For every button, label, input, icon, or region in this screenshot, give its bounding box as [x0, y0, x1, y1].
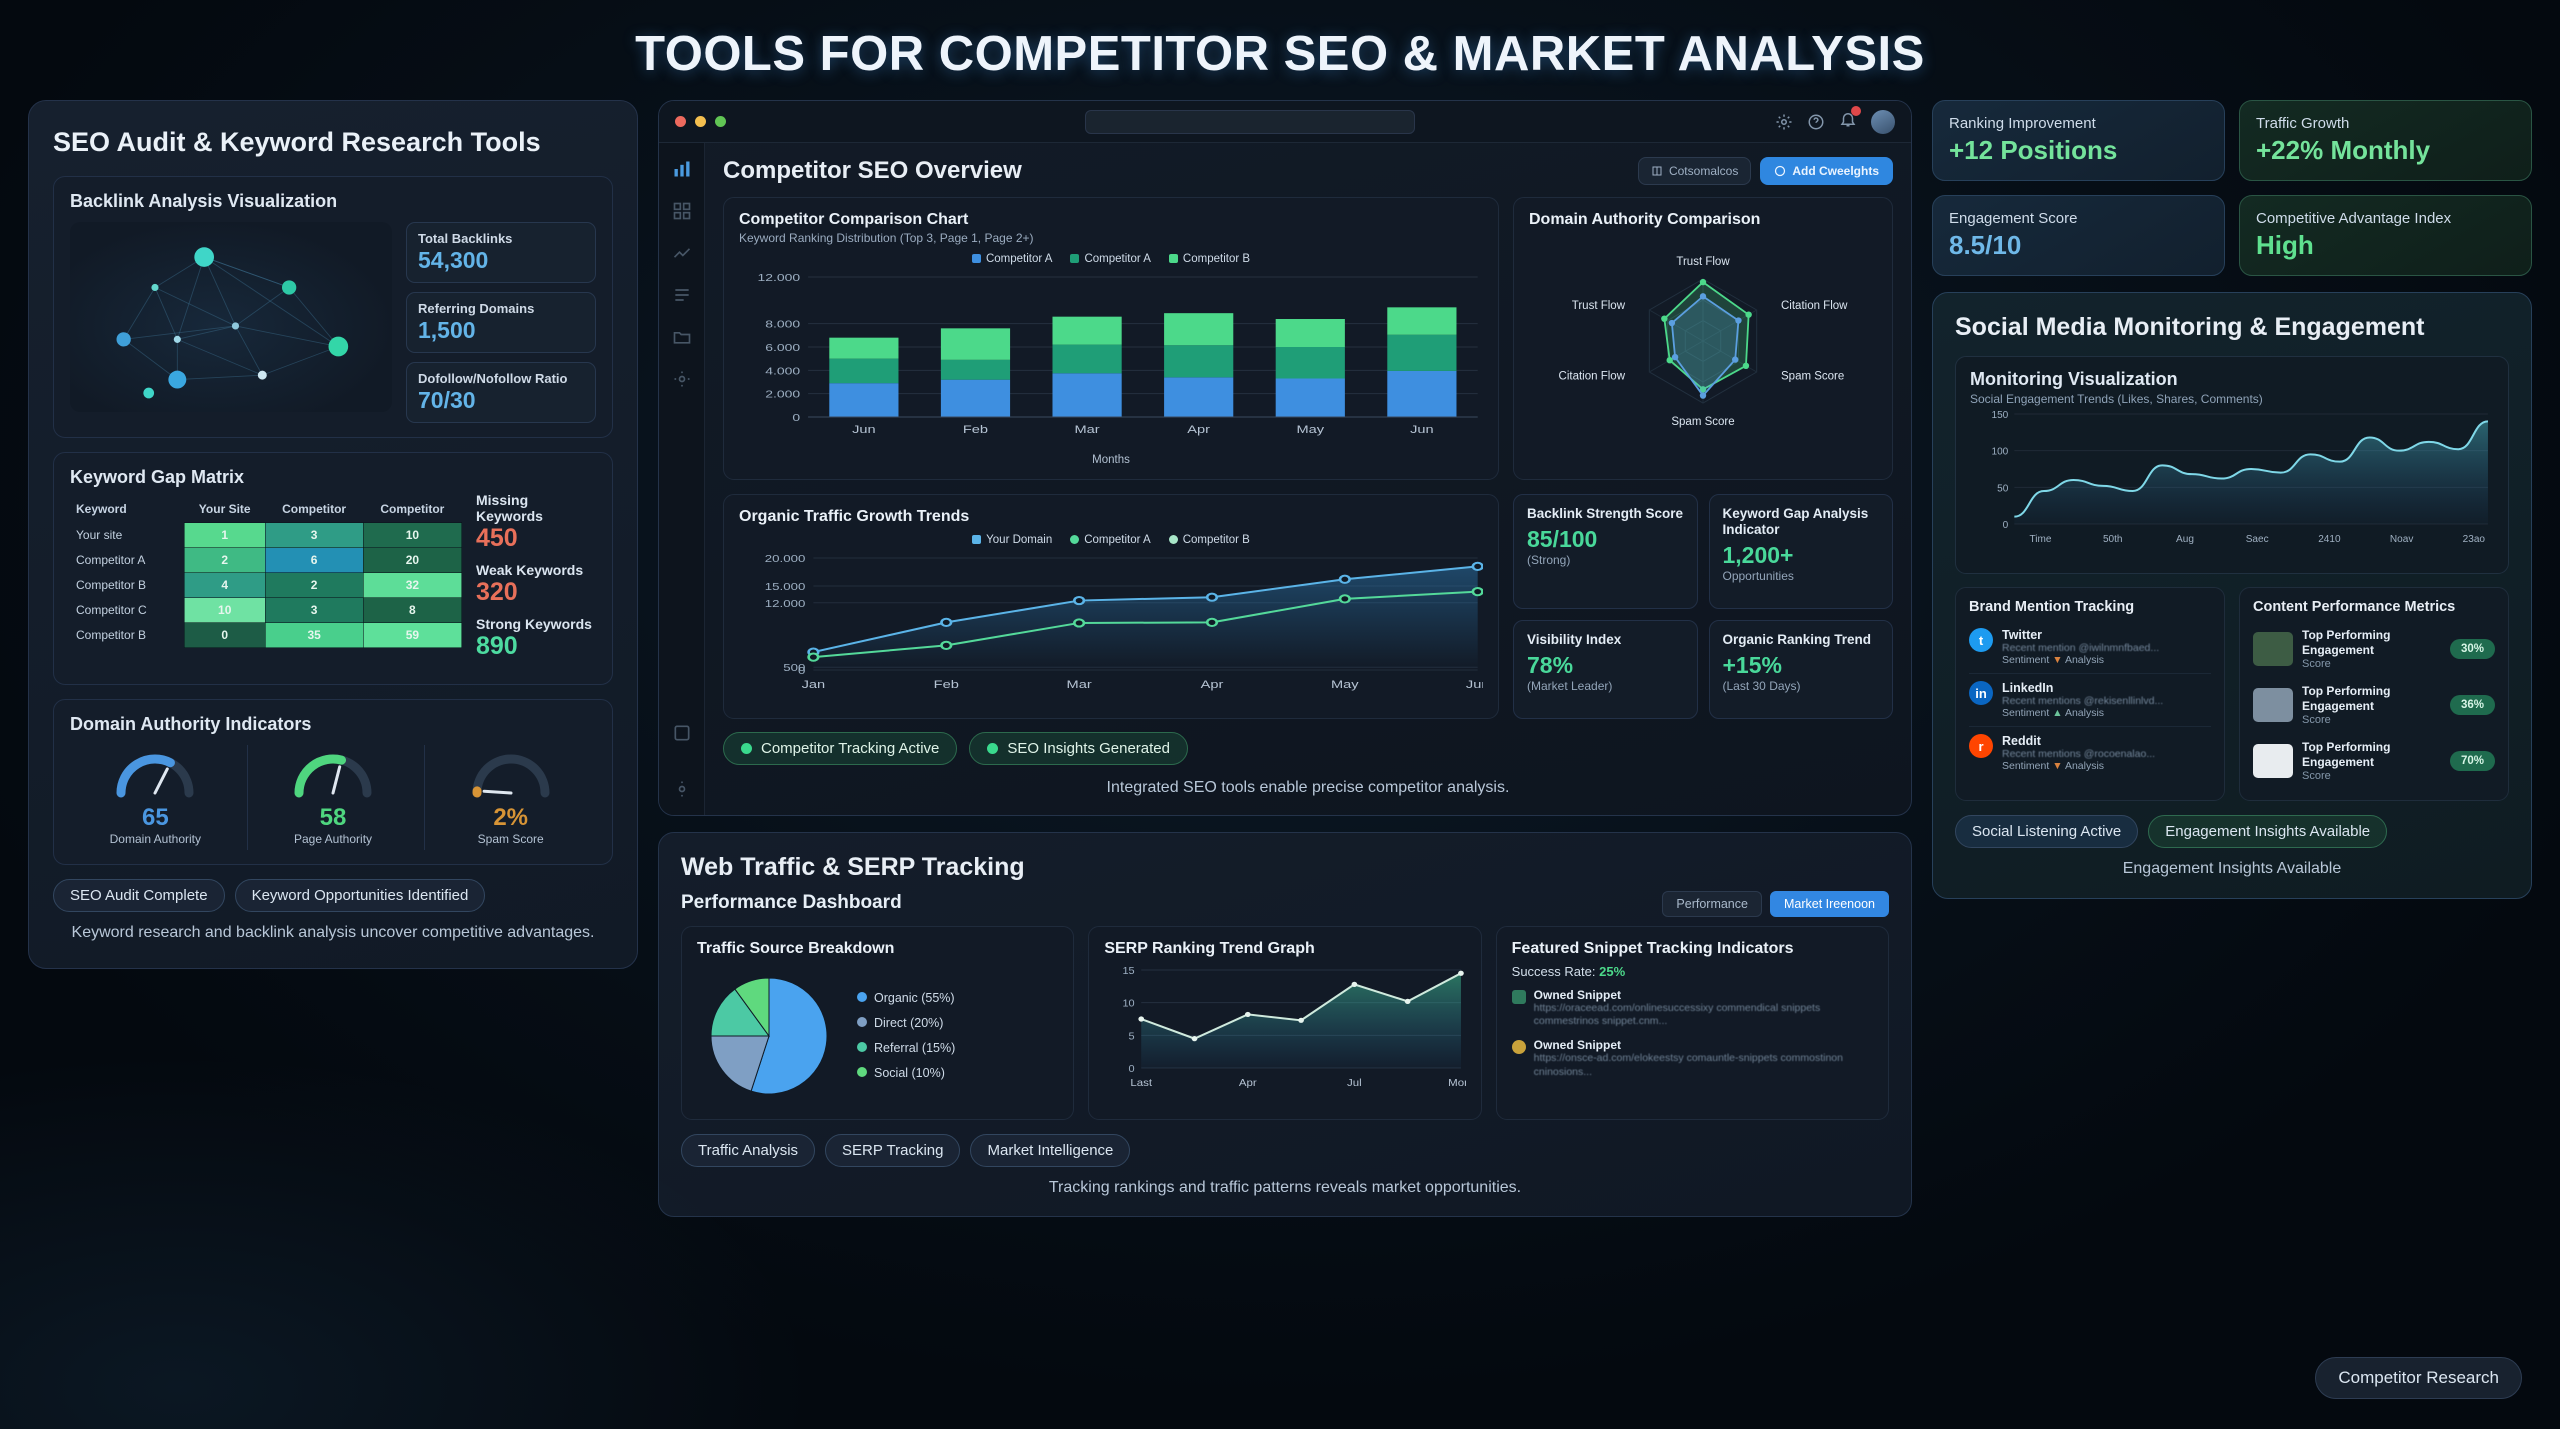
svg-text:Noav: Noav: [2390, 534, 2413, 545]
line-chart-title: Organic Traffic Growth Trends: [739, 508, 1483, 526]
svg-text:Aug: Aug: [2176, 534, 2194, 545]
plus-circle-icon: [1774, 165, 1786, 177]
metric-label: Dofollow/Nofollow Ratio: [418, 371, 584, 386]
add-competitor-button[interactable]: Add Cweelghts: [1760, 157, 1893, 185]
content-title: Top Performing Engagement: [2302, 740, 2441, 770]
browser-chrome: [659, 101, 1911, 143]
stat-card-grid: Backlink Strength Score 85/100 (Strong) …: [1513, 494, 1893, 719]
sentiment-row: Sentiment ▼ Analysis: [2002, 760, 2211, 772]
serp-ranking-trend-graph: SERP Ranking Trend Graph 051015LastAprJu…: [1088, 926, 1481, 1120]
kpi-value: +22% Monthly: [2256, 135, 2515, 166]
footer-badge[interactable]: Competitor Research: [2315, 1357, 2522, 1399]
reddit-icon: r: [1969, 734, 1993, 758]
svg-text:Trust Flow: Trust Flow: [1572, 300, 1626, 312]
pie-legend-item: Social (10%): [857, 1061, 955, 1086]
svg-text:Jun: Jun: [1466, 678, 1483, 691]
bar-chart-subtitle: Keyword Ranking Distribution (Top 3, Pag…: [739, 231, 1483, 245]
stat-sub: (Last 30 Days): [1723, 679, 1880, 693]
monitoring-title: Monitoring Visualization: [1970, 369, 2494, 390]
content-sub: Score: [2302, 658, 2441, 670]
social-panel-title: Social Media Monitoring & Engagement: [1955, 313, 2509, 342]
web-traffic-serp-panel: Web Traffic & SERP Tracking Performance …: [658, 832, 1912, 1218]
snippet-name: Owned Snippet: [1534, 1038, 1873, 1052]
svg-text:23ao: 23ao: [2463, 534, 2486, 545]
legend-item: Competitor B: [1169, 534, 1250, 546]
serp-title: SERP Ranking Trend Graph: [1104, 940, 1465, 958]
window-maximize-icon[interactable]: [715, 116, 726, 127]
content-row[interactable]: Top Performing EngagementScore70%: [2253, 733, 2495, 789]
summary-value: 450: [476, 524, 596, 553]
traffic-source-breakdown: Traffic Source Breakdown Organic (55%)Di…: [681, 926, 1074, 1120]
status-label: Competitor Tracking Active: [761, 740, 939, 757]
right-column: Ranking Improvement +12 Positions Traffi…: [1932, 100, 2532, 899]
content-row[interactable]: Top Performing EngagementScore36%: [2253, 677, 2495, 733]
comparison-button-label: Cotsomalcos: [1669, 164, 1738, 178]
matrix-cell: 35: [265, 623, 363, 648]
table-header-row: Keyword Your Site Competitor Competitor: [70, 496, 462, 523]
gauge-value: 58: [248, 804, 419, 832]
address-bar[interactable]: [1085, 110, 1415, 134]
right-caption: Engagement Insights Available: [1955, 858, 2509, 880]
sidebar-item-folder[interactable]: [672, 327, 692, 347]
lower-panel-subtitle: Performance Dashboard: [681, 892, 902, 914]
left-pill-row: SEO Audit Complete Keyword Opportunities…: [53, 879, 613, 912]
engagement-badge: 36%: [2450, 695, 2495, 715]
content-title: Top Performing Engagement: [2302, 628, 2441, 658]
gauge-arc: [285, 749, 381, 803]
svg-text:100: 100: [1992, 447, 2009, 458]
gauge-group: 65Domain Authority58Page Authority2%Spam…: [70, 745, 596, 850]
seo-audit-panel: SEO Audit & Keyword Research Tools Backl…: [28, 100, 638, 969]
table-row: Competitor B4232: [70, 573, 462, 598]
bar-chart-title: Competitor Comparison Chart: [739, 211, 1483, 229]
svg-text:10: 10: [1123, 999, 1135, 1009]
summary-label: Strong Keywords: [476, 616, 596, 632]
svg-text:50: 50: [1997, 483, 2009, 494]
svg-text:5: 5: [1129, 1031, 1135, 1041]
social-media-panel: Social Media Monitoring & Engagement Mon…: [1932, 292, 2532, 899]
stat-value: +15%: [1723, 652, 1880, 679]
svg-text:20.000: 20.000: [765, 553, 806, 564]
svg-text:Apr: Apr: [1201, 678, 1225, 691]
row-label: Competitor A: [70, 548, 184, 573]
featured-snippet-tracking: Featured Snippet Tracking Indicators Suc…: [1496, 926, 1889, 1120]
snippet-owned-icon: [1512, 1040, 1526, 1054]
gauge-caption: Page Authority: [248, 832, 419, 846]
gauge: 65Domain Authority: [70, 745, 241, 850]
tab-market-intelligence[interactable]: Market Ireenoon: [1770, 891, 1889, 917]
metric-value: 1,500: [418, 317, 584, 344]
metric-label: Total Backlinks: [418, 231, 584, 246]
line-chart-canvas: 050012.00015.00020.000JanFebMarAprMayJun: [739, 550, 1483, 700]
summary-value: 320: [476, 578, 596, 607]
gauge: 2%Spam Score: [424, 745, 596, 850]
stat-title: Visibility Index: [1527, 632, 1684, 648]
matrix-cell: 2: [265, 573, 363, 598]
col-header: Keyword: [70, 496, 184, 523]
metric-card: Referring Domains 1,500: [406, 292, 596, 353]
content-row[interactable]: Top Performing EngagementScore30%: [2253, 621, 2495, 677]
stat-value: 78%: [1527, 652, 1684, 679]
stat-sub: Opportunities: [1723, 569, 1880, 583]
kpi-title: Engagement Score: [1949, 210, 2208, 227]
bar-chart-xlabel: Months: [739, 454, 1483, 466]
gauge-caption: Spam Score: [425, 832, 596, 846]
stat-title: Backlink Strength Score: [1527, 506, 1684, 522]
radar-canvas: Trust FlowCitation FlowSpam ScoreSpam Sc…: [1529, 229, 1877, 444]
center-caption: Integrated SEO tools enable precise comp…: [723, 777, 1893, 799]
bar-chart-canvas: 02.0004.0006.0008.00012.000JunFebMarAprM…: [739, 269, 1483, 447]
svg-text:8.000: 8.000: [765, 318, 800, 330]
add-competitor-label: Add Cweelghts: [1792, 164, 1879, 178]
content-thumbnail: [2253, 632, 2293, 666]
sidebar-item-list[interactable]: [672, 285, 692, 305]
mention-text: Recent mentions @rocoenalao...: [2002, 748, 2211, 760]
line-chart-legend: Your DomainCompetitor ACompetitor B: [739, 534, 1483, 546]
matrix-cell: 10: [184, 598, 265, 623]
table-row: Your site1310: [70, 523, 462, 548]
summary-label: Missing Keywords: [476, 492, 596, 524]
mention-text: Recent mentions @rekisenllinlvd...: [2002, 695, 2211, 707]
kpi-card-engagement-score: Engagement Score 8.5/10: [1932, 195, 2225, 276]
kpi-card-traffic-growth: Traffic Growth +22% Monthly: [2239, 100, 2532, 181]
status-dot-icon: [741, 743, 752, 754]
success-rate-value: 25%: [1599, 964, 1625, 979]
pill-serp-tracking[interactable]: SERP Tracking: [825, 1134, 960, 1167]
sentiment-arrow-icon: ▲: [2052, 707, 2062, 719]
svg-text:15: 15: [1123, 966, 1135, 976]
avatar[interactable]: [1871, 110, 1895, 134]
pie-legend-item: Organic (55%): [857, 986, 955, 1011]
pie-legend-item: Referral (15%): [857, 1036, 955, 1061]
snippet-url: https://onsce-ad.com/elokeestsy comauntl…: [1534, 1052, 1873, 1079]
svg-text:12.000: 12.000: [765, 598, 806, 609]
kpi-grid: Ranking Improvement +12 Positions Traffi…: [1932, 100, 2532, 276]
gauge-value: 65: [70, 804, 241, 832]
snippet-owned-icon: [1512, 990, 1526, 1004]
keyword-gap-matrix-section: Keyword Gap Matrix Keyword Your Site Com…: [53, 452, 613, 685]
gauge: 58Page Authority: [247, 745, 419, 850]
help-icon[interactable]: [1807, 113, 1825, 131]
svg-text:Mar: Mar: [1067, 678, 1093, 691]
snippet-url: https://oraceead.com/onlinesuccessixy co…: [1534, 1002, 1873, 1029]
metric-value: 70/30: [418, 387, 584, 414]
settings-gear-icon[interactable]: [1775, 113, 1793, 131]
stat-card: Keyword Gap Analysis Indicator 1,200+ Op…: [1709, 494, 1894, 609]
compare-icon: [1651, 165, 1663, 177]
legend-item: Competitor A: [1070, 253, 1150, 265]
svg-text:0: 0: [2003, 520, 2009, 531]
network-name: LinkedIn: [2002, 681, 2211, 695]
browser-page-title: Competitor SEO Overview: [723, 157, 1022, 185]
matrix-cell: 3: [265, 598, 363, 623]
sidebar-item-alerts[interactable]: [672, 723, 692, 743]
window-minimize-icon[interactable]: [695, 116, 706, 127]
stat-sub: (Strong): [1527, 553, 1684, 567]
svg-text:Citation Flow: Citation Flow: [1781, 300, 1848, 312]
success-rate-label: Success Rate:: [1512, 964, 1596, 979]
svg-text:Mar: Mar: [1075, 423, 1101, 436]
svg-text:Jul: Jul: [1347, 1077, 1362, 1088]
backlink-network-graph: [70, 222, 392, 412]
svg-text:50th: 50th: [2103, 534, 2123, 545]
summary-label: Weak Keywords: [476, 562, 596, 578]
success-rate-row: Success Rate: 25%: [1512, 964, 1873, 979]
main-layout: SEO Audit & Keyword Research Tools Backl…: [0, 82, 2560, 1217]
matrix-cell: 32: [363, 573, 461, 598]
svg-text:15.000: 15.000: [765, 581, 806, 592]
domain-authority-section: Domain Authority Indicators 65Domain Aut…: [53, 699, 613, 865]
notifications-icon[interactable]: [1839, 110, 1857, 133]
stat-title: Organic Ranking Trend: [1723, 632, 1880, 648]
lower-pill-row: Traffic Analysis SERP Tracking Market In…: [681, 1134, 1889, 1167]
matrix-cell: 3: [265, 523, 363, 548]
pie-legend-item: Direct (20%): [857, 1011, 955, 1036]
matrix-cell: 6: [265, 548, 363, 573]
kpi-card-competitive-advantage: Competitive Advantage Index High: [2239, 195, 2532, 276]
row-label: Competitor C: [70, 598, 184, 623]
left-caption: Keyword research and backlink analysis u…: [53, 922, 613, 944]
content-sub: Score: [2302, 714, 2441, 726]
organic-traffic-chart: Organic Traffic Growth Trends Your Domai…: [723, 494, 1499, 719]
monitoring-visualization: Monitoring Visualization Social Engageme…: [1955, 356, 2509, 574]
matrix-cell: 4: [184, 573, 265, 598]
svg-text:May: May: [1296, 423, 1324, 436]
tab-performance[interactable]: Performance: [1662, 891, 1762, 917]
svg-text:Jun: Jun: [1410, 423, 1434, 436]
sidebar-rail: [659, 143, 705, 815]
matrix-cell: 10: [363, 523, 461, 548]
status-label: SEO Insights Generated: [1007, 740, 1170, 757]
svg-text:Spam Score: Spam Score: [1671, 416, 1734, 428]
twitter-icon: t: [1969, 628, 1993, 652]
stat-sub: (Market Leader): [1527, 679, 1684, 693]
content-thumbnail: [2253, 688, 2293, 722]
sentiment-arrow-icon: ▼: [2052, 760, 2062, 772]
comparison-button[interactable]: Cotsomalcos: [1638, 157, 1751, 185]
domain-authority-title: Domain Authority Indicators: [70, 714, 596, 735]
status-competitor-tracking[interactable]: Competitor Tracking Active: [723, 732, 957, 765]
stat-card: Backlink Strength Score 85/100 (Strong): [1513, 494, 1698, 609]
gauge-arc: [463, 749, 559, 803]
snippet-item[interactable]: Owned Snippet https://onsce-ad.com/eloke…: [1512, 1038, 1873, 1079]
svg-text:Trust Flow: Trust Flow: [1676, 256, 1730, 268]
pill-social-listening[interactable]: Social Listening Active: [1955, 815, 2138, 848]
matrix-cell: 59: [363, 623, 461, 648]
sidebar-item-grid[interactable]: [672, 201, 692, 221]
brand-mention-title: Brand Mention Tracking: [1969, 599, 2211, 615]
sentiment-row: Sentiment ▼ Analysis: [2002, 654, 2211, 666]
window-close-icon[interactable]: [675, 116, 686, 127]
sentiment-arrow-icon: ▼: [2052, 654, 2062, 666]
status-seo-insights[interactable]: SEO Insights Generated: [969, 732, 1188, 765]
metric-value: 54,300: [418, 247, 584, 274]
stat-value: 85/100: [1527, 526, 1684, 553]
engagement-badge: 30%: [2450, 639, 2495, 659]
table-row: Competitor A2620: [70, 548, 462, 573]
snippet-title: Featured Snippet Tracking Indicators: [1512, 940, 1873, 958]
svg-text:2410: 2410: [2318, 534, 2341, 545]
sentiment-row: Sentiment ▲ Analysis: [2002, 707, 2211, 719]
pill-market-intelligence[interactable]: Market Intelligence: [970, 1134, 1130, 1167]
matrix-cell: 20: [363, 548, 461, 573]
pie-canvas: [697, 966, 847, 1106]
kpi-value: +12 Positions: [1949, 135, 2208, 166]
keyword-gap-summary: Missing Keywords 450 Weak Keywords 320 S…: [476, 488, 596, 670]
right-pill-row: Social Listening Active Engagement Insig…: [1955, 815, 2509, 848]
pie-legend: Organic (55%)Direct (20%)Referral (15%)S…: [857, 986, 955, 1086]
pie-title: Traffic Source Breakdown: [697, 940, 1058, 958]
svg-text:Spam Score: Spam Score: [1781, 370, 1844, 382]
kpi-value: 8.5/10: [1949, 230, 2208, 261]
matrix-cell: 1: [184, 523, 265, 548]
row-label: Competitor B: [70, 623, 184, 648]
table-row: Competitor C1038: [70, 598, 462, 623]
svg-text:150: 150: [1992, 410, 2009, 421]
svg-text:0: 0: [792, 412, 800, 424]
col-header: Competitor: [265, 496, 363, 523]
notification-badge: [1851, 106, 1861, 116]
content-thumbnail: [2253, 744, 2293, 778]
content-sub: Score: [2302, 770, 2441, 782]
domain-authority-comparison-chart: Domain Authority Comparison Trust FlowCi…: [1513, 197, 1893, 480]
lower-panel-title: Web Traffic & SERP Tracking: [681, 853, 1889, 882]
matrix-cell: 0: [184, 623, 265, 648]
monitoring-subtitle: Social Engagement Trends (Likes, Shares,…: [1970, 392, 2494, 406]
row-label: Competitor B: [70, 573, 184, 598]
kpi-title: Traffic Growth: [2256, 115, 2515, 132]
gauge-caption: Domain Authority: [70, 832, 241, 846]
pill-engagement-insights[interactable]: Engagement Insights Available: [2148, 815, 2387, 848]
svg-text:2.000: 2.000: [765, 388, 800, 400]
table-row: Competitor B03559: [70, 623, 462, 648]
svg-text:Mont: Mont: [1449, 1077, 1466, 1088]
engagement-badge: 70%: [2450, 751, 2495, 771]
snippet-item[interactable]: Owned Snippet https://oraceead.com/onlin…: [1512, 988, 1873, 1029]
sidebar-item-analytics[interactable]: [672, 159, 692, 179]
pill-seo-audit-complete[interactable]: SEO Audit Complete: [53, 879, 225, 912]
legend-item: Competitor A: [972, 253, 1052, 265]
keyword-gap-table: Keyword Your Site Competitor Competitor …: [70, 496, 462, 648]
kpi-title: Competitive Advantage Index: [2256, 210, 2515, 227]
metric-card: Dofollow/Nofollow Ratio 70/30: [406, 362, 596, 423]
svg-text:0: 0: [1129, 1064, 1135, 1074]
panel-title-seo-audit: SEO Audit & Keyword Research Tools: [53, 127, 613, 158]
stat-card: Organic Ranking Trend +15% (Last 30 Days…: [1709, 620, 1894, 719]
kpi-title: Ranking Improvement: [1949, 115, 2208, 132]
svg-text:Saec: Saec: [2246, 534, 2269, 545]
brand-mention-tracking: Brand Mention Tracking tTwitterRecent me…: [1955, 587, 2225, 801]
backlink-title: Backlink Analysis Visualization: [70, 191, 596, 212]
svg-text:500: 500: [783, 663, 806, 674]
content-performance-metrics: Content Performance Metrics Top Performi…: [2239, 587, 2509, 801]
mention-row[interactable]: inLinkedInRecent mentions @rekisenllinlv…: [1969, 673, 2211, 726]
svg-text:Apr: Apr: [1239, 1077, 1257, 1088]
legend-item: Competitor B: [1169, 253, 1250, 265]
page-title: TOOLS FOR COMPETITOR SEO & MARKET ANALYS…: [0, 0, 2560, 82]
stat-value: 1,200+: [1723, 542, 1880, 569]
metric-label: Referring Domains: [418, 301, 584, 316]
svg-text:Feb: Feb: [963, 423, 988, 436]
svg-text:6.000: 6.000: [765, 342, 800, 354]
svg-text:Feb: Feb: [934, 678, 959, 691]
col-header: Your Site: [184, 496, 265, 523]
radar-title: Domain Authority Comparison: [1529, 211, 1877, 229]
metric-card: Total Backlinks 54,300: [406, 222, 596, 283]
sidebar-item-settings[interactable]: [672, 369, 692, 389]
content-metrics-title: Content Performance Metrics: [2253, 599, 2495, 615]
svg-text:Jun: Jun: [852, 423, 876, 436]
kpi-card-ranking-improvement: Ranking Improvement +12 Positions: [1932, 100, 2225, 181]
network-name: Twitter: [2002, 628, 2211, 642]
svg-text:Jan: Jan: [802, 678, 826, 691]
mention-row[interactable]: rRedditRecent mentions @rocoenalao...Sen…: [1969, 726, 2211, 779]
svg-text:12.000: 12.000: [757, 272, 800, 284]
status-dot-icon: [987, 743, 998, 754]
svg-text:Citation Flow: Citation Flow: [1559, 370, 1626, 382]
stat-card: Visibility Index 78% (Market Leader): [1513, 620, 1698, 719]
svg-text:May: May: [1331, 678, 1359, 691]
summary-value: 890: [476, 632, 596, 661]
kpi-value: High: [2256, 230, 2515, 261]
stat-title: Keyword Gap Analysis Indicator: [1723, 506, 1880, 538]
pill-traffic-analysis[interactable]: Traffic Analysis: [681, 1134, 815, 1167]
svg-text:Apr: Apr: [1187, 423, 1211, 436]
svg-text:Last: Last: [1131, 1077, 1153, 1088]
lower-caption: Tracking rankings and traffic patterns r…: [681, 1177, 1889, 1199]
pill-keyword-opportunities[interactable]: Keyword Opportunities Identified: [235, 879, 486, 912]
svg-text:Time: Time: [2030, 534, 2052, 545]
browser-window: Competitor SEO Overview Cotsomalcos Add …: [658, 100, 1912, 816]
legend-item: Competitor A: [1070, 534, 1150, 546]
svg-text:4.000: 4.000: [765, 365, 800, 377]
center-status-row: Competitor Tracking Active SEO Insights …: [723, 732, 1893, 765]
mention-row[interactable]: tTwitterRecent mention @iwilnmnfbaed...S…: [1969, 621, 2211, 673]
matrix-cell: 2: [184, 548, 265, 573]
content-title: Top Performing Engagement: [2302, 684, 2441, 714]
backlink-metric-cards: Total Backlinks 54,300 Referring Domains…: [406, 222, 596, 423]
row-label: Your site: [70, 523, 184, 548]
bar-chart-legend: Competitor ACompetitor ACompetitor B: [739, 253, 1483, 265]
sidebar-item-preferences[interactable]: [672, 779, 692, 799]
snippet-name: Owned Snippet: [1534, 988, 1873, 1002]
center-column: Competitor SEO Overview Cotsomalcos Add …: [658, 100, 1912, 1217]
sidebar-item-trends[interactable]: [672, 243, 692, 263]
mention-text: Recent mention @iwilnmnfbaed...: [2002, 642, 2211, 654]
competitor-comparison-chart: Competitor Comparison Chart Keyword Rank…: [723, 197, 1499, 480]
monitoring-canvas: 150100500Time50thAugSaec2410Noav23ao: [1970, 406, 2494, 556]
lower-tab-row: Performance Market Ireenoon: [1662, 891, 1889, 917]
serp-canvas: 051015LastAprJulMont: [1104, 958, 1465, 1098]
linkedin-icon: in: [1969, 681, 1993, 705]
matrix-cell: 8: [363, 598, 461, 623]
backlink-analysis-section: Backlink Analysis Visualization: [53, 176, 613, 438]
gauge-value: 2%: [425, 804, 596, 832]
col-header: Competitor: [363, 496, 461, 523]
legend-item: Your Domain: [972, 534, 1052, 546]
network-name: Reddit: [2002, 734, 2211, 748]
keyword-gap-title: Keyword Gap Matrix: [70, 467, 596, 488]
gauge-arc: [107, 749, 203, 803]
